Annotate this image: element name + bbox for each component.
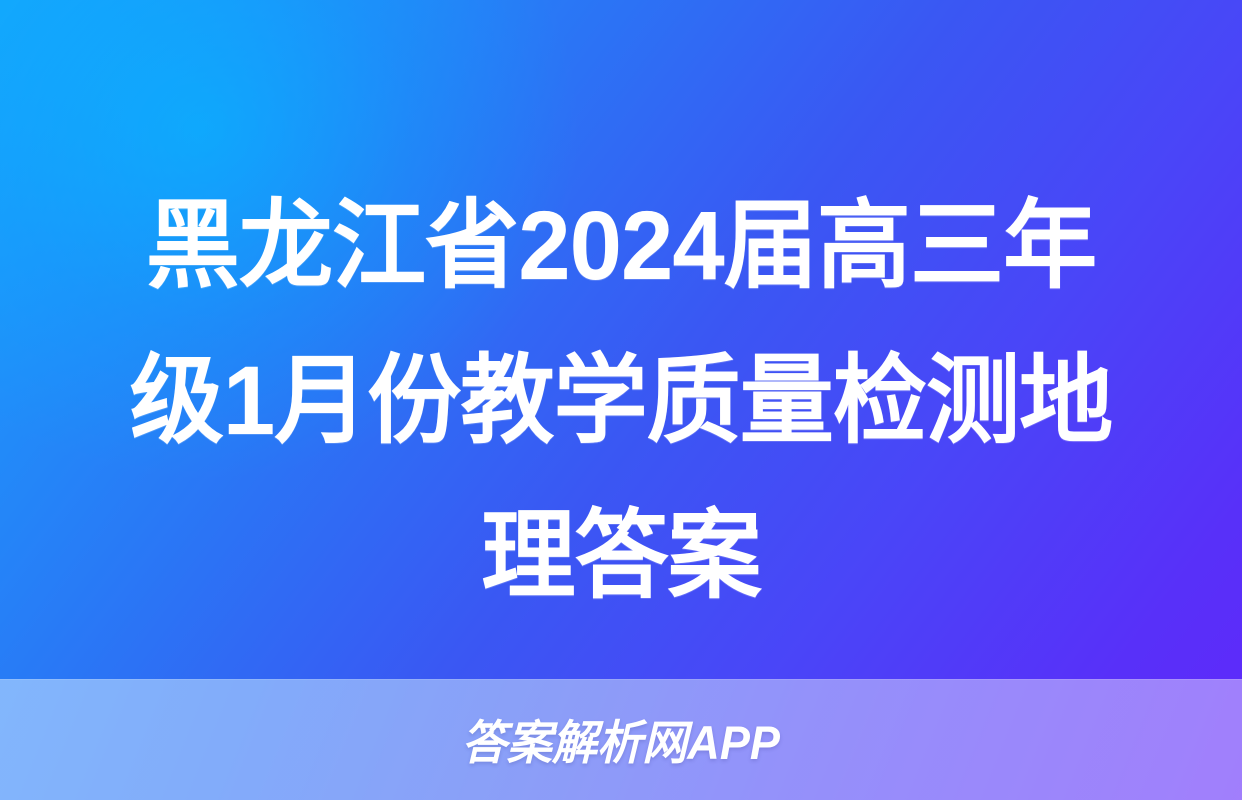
watermark-label: 答案解析网APP (462, 719, 780, 766)
cover-card: 黑龙江省2024届高三年 级1月份教学质量检测地 理答案 答案解析网APP (0, 0, 1242, 800)
title-line-1: 黑龙江省2024届高三年 (42, 168, 1200, 323)
app-watermark-banner: 答案解析网APP (0, 679, 1242, 800)
title-line-3: 理答案 (42, 478, 1200, 633)
page-title: 黑龙江省2024届高三年 级1月份教学质量检测地 理答案 (0, 168, 1242, 633)
banner-divider (0, 679, 1242, 680)
title-line-2: 级1月份教学质量检测地 (42, 323, 1200, 478)
